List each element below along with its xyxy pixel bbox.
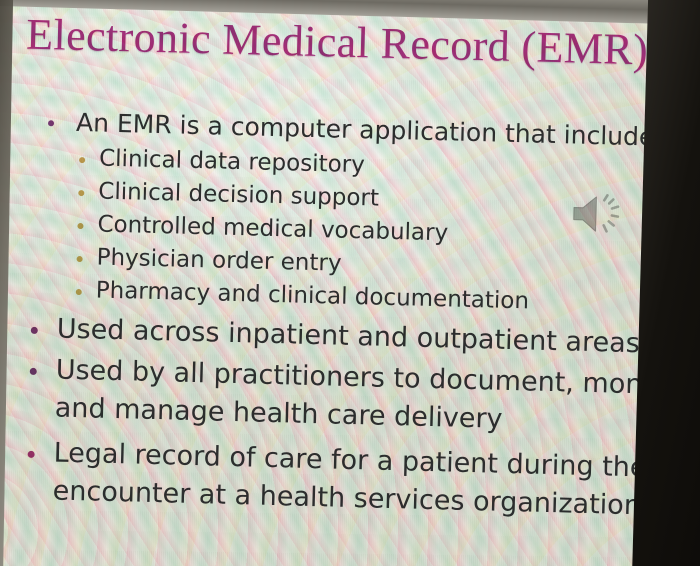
bullet-dot-level1 — [30, 368, 37, 375]
slide-content: Electronic Medical Record (EMR) An EMR i… — [0, 0, 700, 566]
bullet-dot-level2 — [77, 256, 83, 262]
bullet-item-used-by-practitioners: Used by all practitioners to document, m… — [0, 349, 700, 444]
bullet-dot-level1 — [28, 451, 35, 458]
bullet-dot-level2 — [76, 289, 82, 295]
bullet-dot-level1 — [48, 120, 54, 126]
bullet-item-legal-record: Legal record of care for a patient durin… — [0, 432, 700, 527]
bullet-dot-level1 — [31, 327, 38, 334]
bullet-dot-level2 — [78, 190, 84, 196]
presentation-slide: Electronic Medical Record (EMR) An EMR i… — [0, 0, 700, 566]
bullet-dot-level2 — [79, 157, 85, 163]
bullet-dot-level2 — [77, 223, 83, 229]
slide-body: An EMR is a computer application that in… — [0, 102, 700, 527]
speaker-audio-icon[interactable] — [569, 191, 626, 236]
slide-photo-stage: Electronic Medical Record (EMR) An EMR i… — [0, 0, 700, 566]
